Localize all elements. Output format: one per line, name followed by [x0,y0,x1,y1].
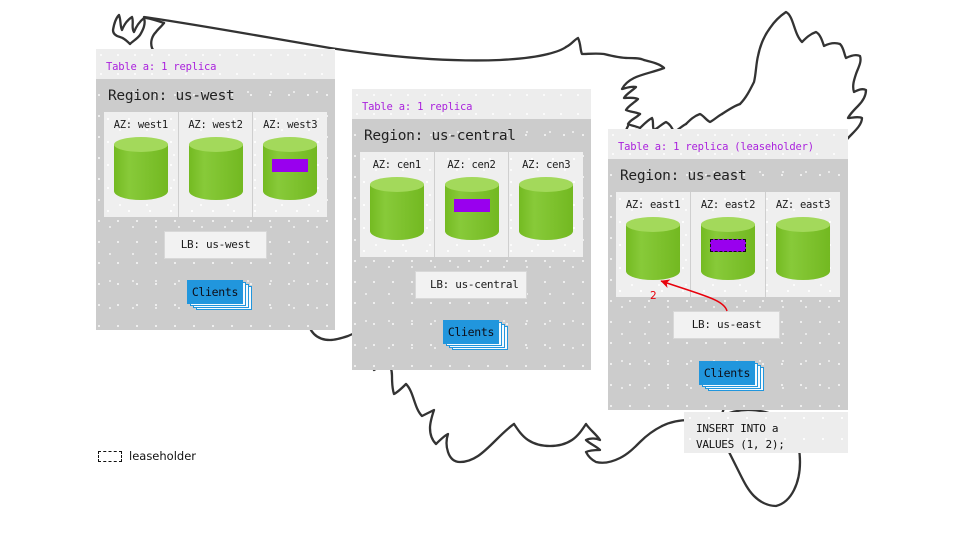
cylinder-shading [445,184,499,240]
replica-marker [272,159,308,172]
node-cylinder-east1[interactable] [626,217,680,287]
cylinder-top [776,217,830,232]
cylinder-top [189,137,243,152]
region-title-bar: Table a: 1 replica [96,49,335,79]
cylinder-top [626,217,680,232]
clients-stack-us-east[interactable]: Clients [699,361,765,391]
az-label: AZ: east1 [620,199,686,211]
cylinder-shading [519,184,573,240]
cylinder-shading [626,224,680,280]
cylinder-shading [370,184,424,240]
clients-stack-us-west[interactable]: Clients [187,280,253,310]
az-cell-cen1[interactable]: AZ: cen1 [360,152,434,257]
table-replica-label: Table a: 1 replica [106,61,216,73]
node-cylinder-east3[interactable] [776,217,830,287]
az-cell-west1[interactable]: AZ: west1 [104,112,178,217]
cylinder-top [445,177,499,192]
diagram-canvas: Table a: 1 replica Region: us-west AZ: w… [0,0,960,540]
cylinder-shading [701,224,755,280]
region-name-label: Region: us-west [96,79,335,112]
clients-button-label[interactable]: Clients [699,361,755,385]
cylinder-top [370,177,424,192]
az-cell-cen2[interactable]: AZ: cen2 [434,152,509,257]
cylinder-shading [189,144,243,200]
clients-button-label[interactable]: Clients [443,320,499,344]
az-label: AZ: west3 [257,119,323,131]
node-cylinder-cen1[interactable] [370,177,424,247]
legend-label: leaseholder [129,449,196,463]
az-label: AZ: east2 [695,199,761,211]
replica-marker-leaseholder [710,239,746,252]
region-title-bar: Table a: 1 replica (leaseholder) [608,129,848,159]
region-name-label: Region: us-central [352,119,591,152]
node-cylinder-west1[interactable] [114,137,168,207]
az-cell-west2[interactable]: AZ: west2 [178,112,253,217]
load-balancer-us-west[interactable]: LB: us-west [164,231,267,259]
cylinder-shading [114,144,168,200]
arrow-step-number: 2 [650,290,657,302]
cylinder-shading [776,224,830,280]
az-label: AZ: cen2 [439,159,505,171]
region-title-bar: Table a: 1 replica [352,89,591,119]
cylinder-top [114,137,168,152]
az-row: AZ: cen1 AZ: cen2 AZ: cen3 [360,152,583,257]
az-cell-east2[interactable]: AZ: east2 [690,192,765,297]
table-replica-label: Table a: 1 replica [362,101,472,113]
clients-stack-us-central[interactable]: Clients [443,320,509,350]
node-cylinder-east2[interactable] [701,217,755,287]
az-label: AZ: cen1 [364,159,430,171]
table-replica-label: Table a: 1 replica (leaseholder) [618,141,814,153]
cylinder-top [519,177,573,192]
az-label: AZ: west1 [108,119,174,131]
node-cylinder-west2[interactable] [189,137,243,207]
load-balancer-us-east[interactable]: LB: us-east [673,311,780,339]
az-label: AZ: cen3 [513,159,579,171]
sql-statement-box: INSERT INTO a VALUES (1, 2); [684,412,848,453]
legend: leaseholder [98,449,196,463]
az-cell-cen3[interactable]: AZ: cen3 [508,152,583,257]
az-label: AZ: east3 [770,199,836,211]
dashed-rectangle-icon [98,451,122,462]
cylinder-shading [263,144,317,200]
clients-button-label[interactable]: Clients [187,280,243,304]
az-row: AZ: west1 AZ: west2 AZ: west3 [104,112,327,217]
cylinder-top [263,137,317,152]
region-name-label: Region: us-east [608,159,848,192]
az-cell-east1[interactable]: AZ: east1 [616,192,690,297]
load-balancer-us-central[interactable]: LB: us-central [415,271,527,299]
az-row: AZ: east1 AZ: east2 AZ: east3 [616,192,840,297]
az-cell-east3[interactable]: AZ: east3 [765,192,840,297]
cylinder-top [701,217,755,232]
az-label: AZ: west2 [183,119,249,131]
node-cylinder-cen2[interactable] [445,177,499,247]
node-cylinder-west3[interactable] [263,137,317,207]
node-cylinder-cen3[interactable] [519,177,573,247]
az-cell-west3[interactable]: AZ: west3 [252,112,327,217]
replica-marker [454,199,490,212]
